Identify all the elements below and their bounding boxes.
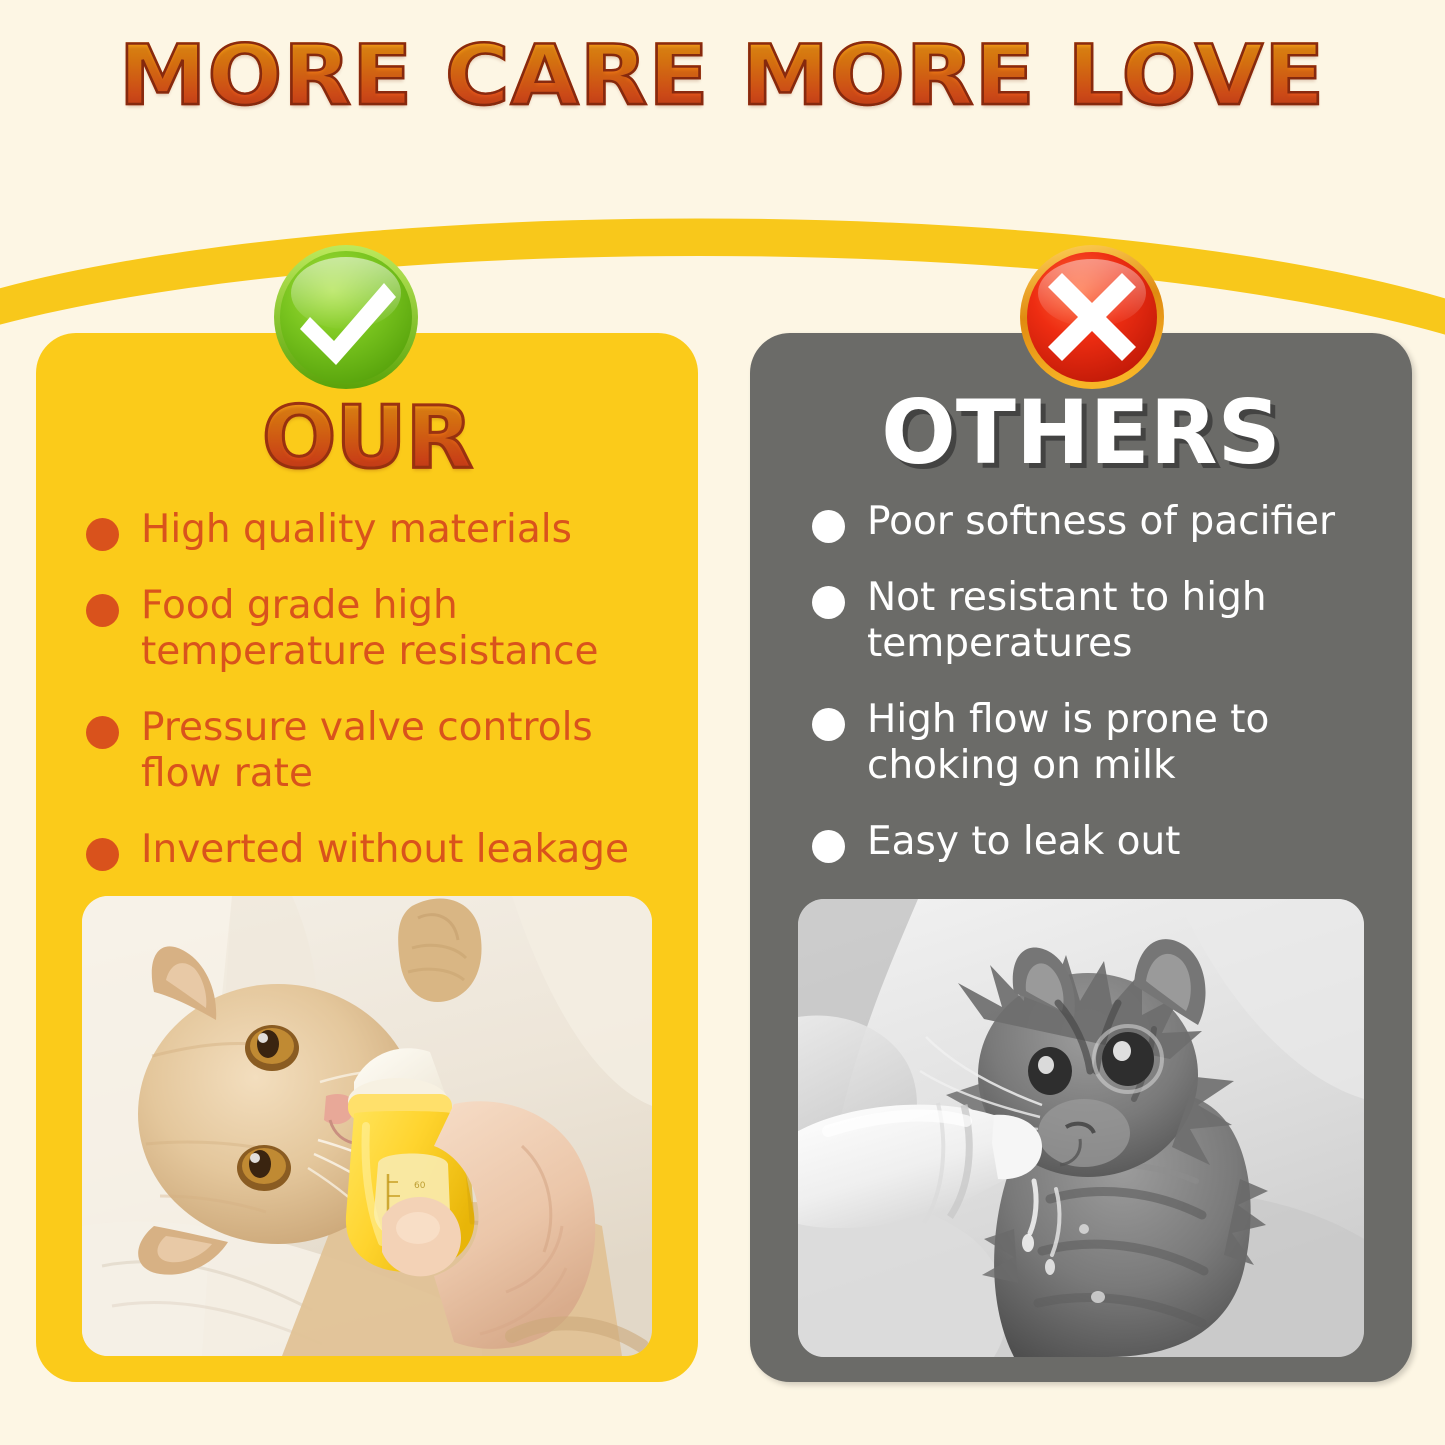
list-item-label: High flow is prone to choking on milk — [867, 697, 1394, 789]
list-item: Not resistant to high temperatures — [812, 575, 1394, 667]
list-item: Easy to leak out — [812, 819, 1394, 865]
svg-text:60: 60 — [414, 1181, 426, 1191]
our-panel-heading: OUR — [29, 395, 704, 481]
bullet-dot-icon — [812, 510, 845, 543]
bullet-dot-icon — [86, 716, 119, 749]
list-item-label: Easy to leak out — [867, 819, 1180, 865]
bullet-dot-icon — [812, 586, 845, 619]
bullet-dot-icon — [812, 708, 845, 741]
list-item-label: Pressure valve controls flow rate — [141, 705, 672, 797]
bullet-dot-icon — [86, 518, 119, 551]
others-panel: OTHERS Poor softness of pacifier Not res… — [750, 333, 1412, 1382]
list-item: High quality materials — [86, 507, 672, 553]
bullet-dot-icon — [86, 838, 119, 871]
bullet-dot-icon — [86, 594, 119, 627]
list-item-label: Food grade high temperature resistance — [141, 583, 672, 675]
list-item: High flow is prone to choking on milk — [812, 697, 1394, 789]
list-item-label: High quality materials — [141, 507, 572, 553]
page-title-text: MORE CARE MORE LOVE — [119, 34, 1325, 117]
red-cross-badge-icon — [1018, 243, 1166, 391]
bullet-dot-icon — [812, 830, 845, 863]
list-item-label: Poor softness of pacifier — [867, 499, 1335, 545]
list-item-label: Inverted without leakage — [141, 827, 629, 873]
others-drawbacks-list: Poor softness of pacifier Not resistant … — [812, 499, 1394, 865]
our-panel: OUR High quality materials Food grade hi… — [36, 333, 698, 1382]
list-item: Inverted without leakage — [86, 827, 672, 873]
our-product-photo: 60 40 20 — [82, 896, 652, 1356]
others-product-photo — [798, 899, 1364, 1357]
page-title: MORE CARE MORE LOVE — [0, 34, 1445, 117]
others-panel-heading: OTHERS — [750, 389, 1412, 477]
list-item: Pressure valve controls flow rate — [86, 705, 672, 797]
green-check-badge-icon — [272, 243, 420, 391]
our-benefits-list: High quality materials Food grade high t… — [86, 507, 672, 873]
list-item: Poor softness of pacifier — [812, 499, 1394, 545]
list-item-label: Not resistant to high temperatures — [867, 575, 1394, 667]
list-item: Food grade high temperature resistance — [86, 583, 672, 675]
